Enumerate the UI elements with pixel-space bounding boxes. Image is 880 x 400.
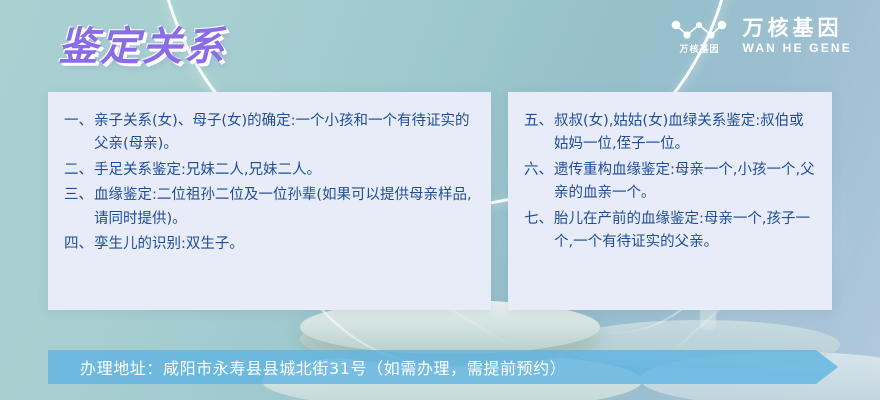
address-text: 办理地址：咸阳市永寿县县城北街31号（如需办理，需提前预约） (80, 350, 566, 384)
list-item-number: 五、 (524, 110, 554, 157)
list-item: 三、 血缘鉴定:二位祖孙二位及一位孙辈(如果可以提供母亲样品,请同时提供)。 (64, 184, 475, 231)
list-item-text: 孪生儿的识别:双生子。 (94, 233, 475, 256)
brand-mark-label: 万核基因 (679, 45, 719, 54)
list-item-number: 一、 (64, 110, 94, 157)
list-item: 二、 手足关系鉴定:兄妹二人,兄妹二人。 (64, 159, 475, 182)
list-item: 一、 亲子关系(女)、母子(女)的确定:一个小孩和一个有待证实的父亲(母亲)。 (64, 110, 475, 157)
list-item-number: 四、 (64, 233, 94, 256)
list-item-text: 血缘鉴定:二位祖孙二位及一位孙辈(如果可以提供母亲样品,请同时提供)。 (94, 184, 475, 231)
list-item-number: 三、 (64, 184, 94, 231)
list-item-number: 六、 (524, 159, 554, 206)
list-item-text: 胎儿在产前的血缘鉴定:母亲一个,孩子一个,一个有待证实的父亲。 (554, 208, 816, 255)
poster-canvas: 鉴定关系 (0, 0, 880, 400)
list-item-text: 叔叔(女),姑姑(女)血绿关系鉴定:叔伯或姑妈一位,侄子一位。 (554, 110, 816, 157)
brand-text: 万核基因 WAN HE GENE (742, 18, 852, 55)
list-item: 四、 孪生儿的识别:双生子。 (64, 233, 475, 256)
list-item: 五、 叔叔(女),姑姑(女)血绿关系鉴定:叔伯或姑妈一位,侄子一位。 (524, 110, 816, 157)
list-item-text: 手足关系鉴定:兄妹二人,兄妹二人。 (94, 159, 475, 182)
panel-left: 一、 亲子关系(女)、母子(女)的确定:一个小孩和一个有待证实的父亲(母亲)。 … (48, 92, 491, 310)
list-item-text: 遗传重构血缘鉴定:母亲一个,小孩一个,父亲的血亲一个。 (554, 159, 816, 206)
content-panels: 一、 亲子关系(女)、母子(女)的确定:一个小孩和一个有待证实的父亲(母亲)。 … (48, 92, 832, 310)
molecule-network-icon (670, 19, 728, 43)
address-bar: 办理地址：咸阳市永寿县县城北街31号（如需办理，需提前预约） (48, 350, 838, 384)
brand-logo: 万核基因 万核基因 WAN HE GENE (670, 18, 852, 55)
page-title: 鉴定关系 (58, 14, 226, 72)
panel-right: 五、 叔叔(女),姑姑(女)血绿关系鉴定:叔伯或姑妈一位,侄子一位。 六、 遗传… (508, 92, 832, 310)
brand-name-en: WAN HE GENE (742, 42, 852, 55)
list-item-number: 七、 (524, 208, 554, 255)
list-item: 七、 胎儿在产前的血缘鉴定:母亲一个,孩子一个,一个有待证实的父亲。 (524, 208, 816, 255)
brand-name-cn: 万核基因 (742, 18, 852, 40)
list-item-number: 二、 (64, 159, 94, 182)
list-item-text: 亲子关系(女)、母子(女)的确定:一个小孩和一个有待证实的父亲(母亲)。 (94, 110, 475, 157)
list-item: 六、 遗传重构血缘鉴定:母亲一个,小孩一个,父亲的血亲一个。 (524, 159, 816, 206)
brand-mark: 万核基因 (670, 19, 728, 54)
